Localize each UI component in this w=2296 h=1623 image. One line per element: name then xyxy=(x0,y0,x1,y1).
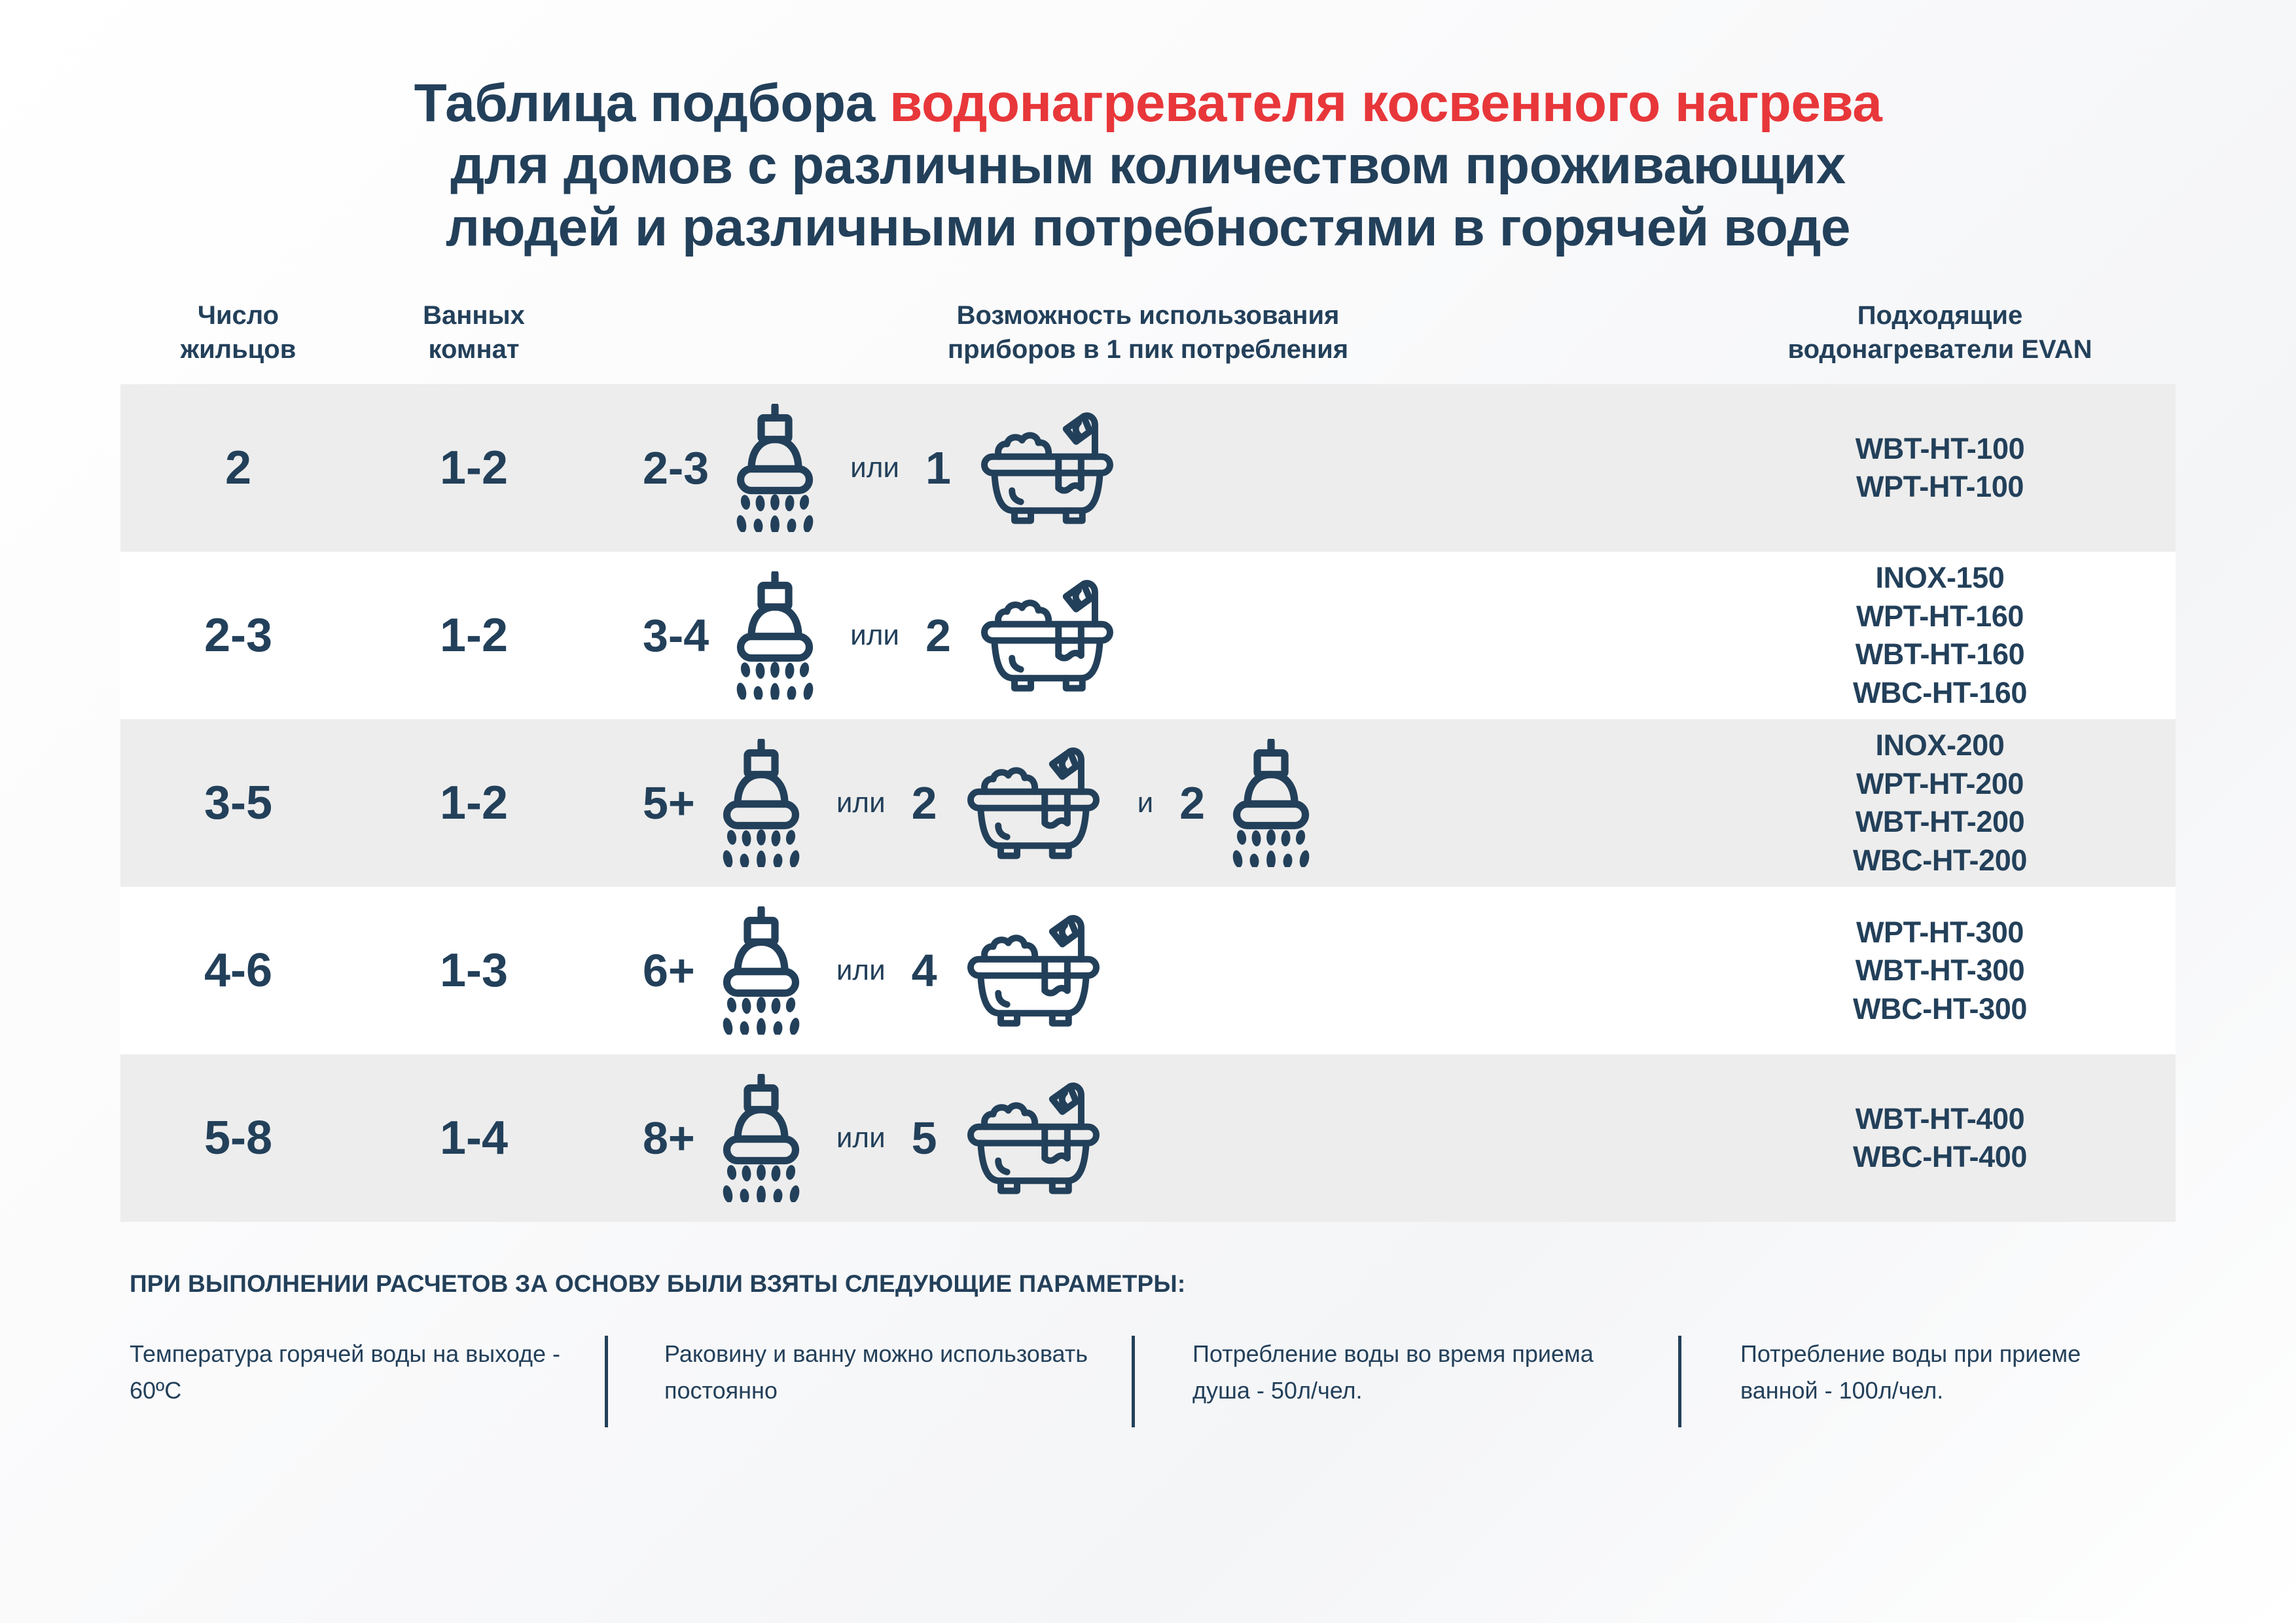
table-row: 4-6 1-3 6+ или xyxy=(120,887,2176,1054)
bathrooms-count-value: 1-3 xyxy=(440,944,508,997)
footer-note: Температура горячей воды на выходе - 60º… xyxy=(120,1336,605,1427)
footer-title: ПРИ ВЫПОЛНЕНИИ РАСЧЕТОВ ЗА ОСНОВУ БЫЛИ В… xyxy=(130,1270,2176,1298)
bathtub-icon xyxy=(954,740,1111,866)
cell-usage: 6+ или 4 xyxy=(592,887,1704,1054)
column-header-usage: Возможность использования приборов в 1 п… xyxy=(592,299,1704,366)
model-name: WPT-HT-300 xyxy=(1856,914,2024,952)
shower-head-icon xyxy=(712,739,810,867)
cell-people-count: 4-6 xyxy=(120,887,356,1054)
conjunction-or: или xyxy=(824,619,925,652)
cell-models: WBT-HT-400WBC-HT-400 xyxy=(1704,1054,2176,1222)
cell-bathrooms-count: 1-4 xyxy=(356,1054,592,1222)
bathtub-icon-wrap xyxy=(968,573,1125,698)
footer-note: Раковину и ванну можно использовать пост… xyxy=(608,1336,1132,1427)
cell-people-count: 3-5 xyxy=(120,719,356,887)
footer-section: ПРИ ВЫПОЛНЕНИИ РАСЧЕТОВ ЗА ОСНОВУ БЫЛИ В… xyxy=(120,1270,2176,1427)
shower-icon-wrap xyxy=(726,404,824,532)
bathtub-icon xyxy=(954,908,1111,1033)
model-name: WBT-HT-300 xyxy=(1856,952,2025,990)
bathtub-group: 2 xyxy=(912,740,1111,866)
bathtub-count: 5 xyxy=(912,1112,937,1164)
column-header-models: Подходящие водонагреватели EVAN xyxy=(1704,299,2176,366)
cell-usage: 2-3 или 1 xyxy=(592,384,1704,552)
conjunction-or: или xyxy=(810,787,912,819)
shower-icon-wrap xyxy=(1222,739,1320,867)
cell-bathrooms-count: 1-3 xyxy=(356,887,592,1054)
title-line-2: для домов с различным количеством прожив… xyxy=(0,134,2296,196)
conjunction-or: или xyxy=(810,1122,912,1154)
model-name: WBT-HT-200 xyxy=(1856,803,2025,842)
bathtub-count: 4 xyxy=(912,944,937,997)
cell-models: WBT-HT-100WPT-HT-100 xyxy=(1704,384,2176,552)
cell-usage: 3-4 или 2 xyxy=(592,552,1704,719)
shower-count: 6+ xyxy=(643,944,695,997)
column-header-bathrooms: Ванных комнат xyxy=(356,299,592,366)
page-title: Таблица подбора водонагревателя косвенно… xyxy=(0,0,2296,259)
people-count-value: 4-6 xyxy=(204,944,272,997)
table-body: 2 1-2 2-3 или xyxy=(120,384,2176,1222)
cell-models: INOX-150WPT-HT-160WBT-HT-160WBC-HT-160 xyxy=(1704,552,2176,719)
title-line-3: людей и различными потребностями в горяч… xyxy=(0,196,2296,259)
shower-group: 8+ xyxy=(643,1074,810,1202)
shower-icon-wrap xyxy=(712,1074,810,1202)
model-name: WBC-HT-300 xyxy=(1853,990,2027,1029)
cell-people-count: 5-8 xyxy=(120,1054,356,1222)
cell-bathrooms-count: 1-2 xyxy=(356,552,592,719)
people-count-value: 3-5 xyxy=(204,776,272,830)
people-count-value: 2 xyxy=(225,441,251,495)
bathtub-icon-wrap xyxy=(954,1075,1111,1201)
bathrooms-count-value: 1-2 xyxy=(440,609,508,662)
model-name: INOX-200 xyxy=(1876,726,2005,765)
selection-table: Число жильцов Ванных комнат Возможность … xyxy=(120,299,2176,1222)
people-count-value: 5-8 xyxy=(204,1111,272,1165)
model-name: WPT-HT-100 xyxy=(1856,468,2024,507)
footer-note: Потребление воды во время приема душа - … xyxy=(1135,1336,1678,1427)
conjunction-and: и xyxy=(1111,787,1180,819)
shower-count: 3-4 xyxy=(643,609,709,662)
bathrooms-count-value: 1-2 xyxy=(440,776,508,830)
model-name: WBC-HT-160 xyxy=(1853,674,2027,713)
bathtub-group: 2 xyxy=(925,573,1125,698)
bathtub-icon xyxy=(954,1075,1111,1201)
table-row: 3-5 1-2 5+ или xyxy=(120,719,2176,887)
table-header-row: Число жильцов Ванных комнат Возможность … xyxy=(120,299,2176,384)
model-name: WPT-HT-160 xyxy=(1856,597,2024,636)
conjunction-or: или xyxy=(810,954,912,987)
bathtub-group: 5 xyxy=(912,1075,1111,1201)
model-name: WPT-HT-200 xyxy=(1856,765,2024,804)
shower-group: 6+ xyxy=(643,906,810,1035)
shower-head-icon xyxy=(712,906,810,1035)
footer-note: Потребление воды при приеме ванной - 100… xyxy=(1681,1336,2179,1427)
shower-count: 5+ xyxy=(643,777,695,829)
shower-group: 2-3 xyxy=(643,404,824,532)
column-header-bathrooms-line2: комнат xyxy=(356,333,592,366)
bathtub-group: 1 xyxy=(925,405,1125,531)
conjunction-or: или xyxy=(824,452,925,484)
table-row: 5-8 1-4 8+ или xyxy=(120,1054,2176,1222)
column-header-models-line1: Подходящие xyxy=(1704,299,2176,332)
shower-group: 3-4 xyxy=(643,571,824,700)
model-name: WBC-HT-200 xyxy=(1853,842,2027,880)
cell-bathrooms-count: 1-2 xyxy=(356,384,592,552)
column-header-bathrooms-line1: Ванных xyxy=(356,299,592,332)
model-name: INOX-150 xyxy=(1876,559,2005,597)
bathtub-icon-wrap xyxy=(954,908,1111,1033)
shower-count: 8+ xyxy=(643,1112,695,1164)
shower-group: 5+ xyxy=(643,739,810,867)
bathtub-icon xyxy=(968,573,1125,698)
cell-models: WPT-HT-300WBT-HT-300WBC-HT-300 xyxy=(1704,887,2176,1054)
footer-notes: Температура горячей воды на выходе - 60º… xyxy=(120,1336,2176,1427)
people-count-value: 2-3 xyxy=(204,609,272,662)
model-name: WBC-HT-400 xyxy=(1853,1138,2027,1177)
shower-head-icon xyxy=(726,571,824,700)
column-header-people-line1: Число xyxy=(120,299,356,332)
cell-people-count: 2-3 xyxy=(120,552,356,719)
cell-people-count: 2 xyxy=(120,384,356,552)
column-header-usage-line1: Возможность использования xyxy=(592,299,1704,332)
column-header-usage-line2: приборов в 1 пик потребления xyxy=(592,333,1704,366)
bathtub-icon-wrap xyxy=(954,740,1111,866)
table-row: 2-3 1-2 3-4 или xyxy=(120,552,2176,719)
model-name: WBT-HT-100 xyxy=(1856,430,2025,469)
model-name: WBT-HT-160 xyxy=(1856,635,2025,674)
table-row: 2 1-2 2-3 или xyxy=(120,384,2176,552)
title-line-1: Таблица подбора водонагревателя косвенно… xyxy=(0,72,2296,134)
column-header-people: Число жильцов xyxy=(120,299,356,366)
bathtub-group: 4 xyxy=(912,908,1111,1033)
column-header-people-line2: жильцов xyxy=(120,333,356,366)
bathtub-count: 1 xyxy=(925,442,951,494)
cell-usage: 5+ или 2 xyxy=(592,719,1704,887)
title-plain-part: Таблица подбора xyxy=(414,73,889,133)
extra-shower-count: 2 xyxy=(1179,777,1205,829)
infographic-page: Таблица подбора водонагревателя косвенно… xyxy=(0,0,2296,1623)
shower-head-icon xyxy=(726,404,824,532)
cell-models: INOX-200WPT-HT-200WBT-HT-200WBC-HT-200 xyxy=(1704,719,2176,887)
bathtub-count: 2 xyxy=(912,777,937,829)
bathrooms-count-value: 1-4 xyxy=(440,1111,508,1165)
shower-icon-wrap xyxy=(712,906,810,1035)
shower-head-icon xyxy=(712,1074,810,1202)
shower-icon-wrap xyxy=(726,571,824,700)
shower-icon-wrap xyxy=(712,739,810,867)
column-header-models-line2: водонагреватели EVAN xyxy=(1704,333,2176,366)
bathtub-count: 2 xyxy=(925,609,951,662)
shower-head-icon xyxy=(1222,739,1320,867)
cell-usage: 8+ или 5 xyxy=(592,1054,1704,1222)
extra-shower-group: 2 xyxy=(1179,739,1320,867)
title-accent-part: водонагревателя косвенного нагрева xyxy=(889,73,1882,133)
bathtub-icon xyxy=(968,405,1125,531)
model-name: WBT-HT-400 xyxy=(1856,1100,2025,1139)
shower-count: 2-3 xyxy=(643,442,709,494)
bathtub-icon-wrap xyxy=(968,405,1125,531)
cell-bathrooms-count: 1-2 xyxy=(356,719,592,887)
bathrooms-count-value: 1-2 xyxy=(440,441,508,495)
